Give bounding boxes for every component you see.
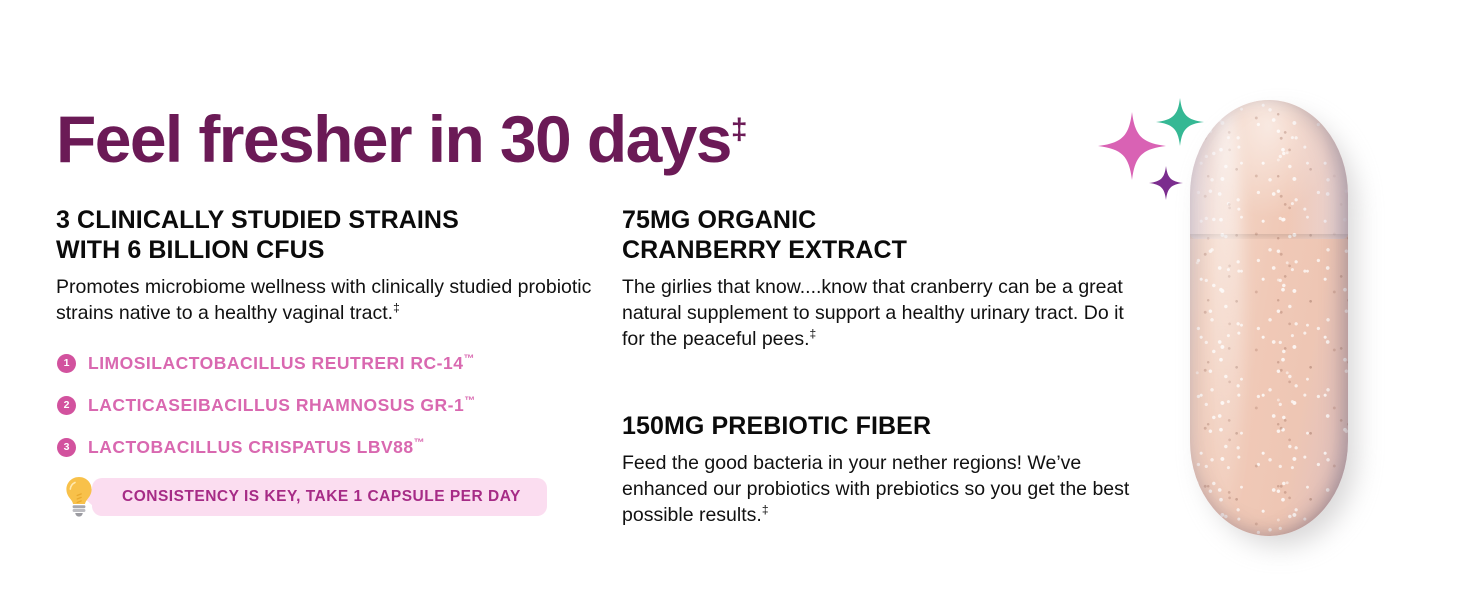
trademark-symbol: ™ xyxy=(464,395,475,407)
consistency-callout: CONSISTENCY IS KEY, TAKE 1 CAPSULE PER D… xyxy=(62,472,547,522)
page-title: Feel fresher in 30 days‡ xyxy=(56,106,748,172)
strain-name-text: LIMOSILACTOBACILLUS REUTRERI RC-14 xyxy=(88,353,463,373)
fiber-body: Feed the good bacteria in your nether re… xyxy=(622,451,1142,529)
strain-name: LIMOSILACTOBACILLUS REUTRERI RC-14™ xyxy=(88,353,474,374)
sparkle-purple-small xyxy=(1149,166,1183,200)
strains-body-text: Promotes microbiome wellness with clinic… xyxy=(56,276,591,324)
strain-name: LACTICASEIBACILLUS RHAMNOSUS GR-1™ xyxy=(88,395,475,416)
list-item: 2 LACTICASEIBACILLUS RHAMNOSUS GR-1™ xyxy=(57,394,475,416)
list-item: 3 LACTOBACILLUS CRISPATUS LBV88™ xyxy=(57,436,475,458)
strain-number-badge: 1 xyxy=(57,354,76,373)
fiber-heading: 150MG PREBIOTIC FIBER xyxy=(622,411,1142,441)
trademark-symbol: ™ xyxy=(463,353,474,365)
section-spacer xyxy=(622,353,1142,411)
cranberry-body-dagger: ‡ xyxy=(810,326,817,340)
sparkle-pink-large xyxy=(1098,112,1166,180)
capsule-image xyxy=(1190,100,1350,540)
strain-name: LACTOBACILLUS CRISPATUS LBV88™ xyxy=(88,437,425,458)
callout-bubble: CONSISTENCY IS KEY, TAKE 1 CAPSULE PER D… xyxy=(92,478,547,516)
strain-number-badge: 2 xyxy=(57,396,76,415)
lightbulb-icon xyxy=(62,475,96,519)
strains-body: Promotes microbiome wellness with clinic… xyxy=(56,275,616,327)
strains-heading-line1: 3 CLINICALLY STUDIED STRAINS xyxy=(56,206,459,234)
trademark-symbol: ™ xyxy=(414,437,425,449)
strain-list: 1 LIMOSILACTOBACILLUS REUTRERI RC-14™ 2 … xyxy=(57,352,475,478)
strains-body-dagger: ‡ xyxy=(393,300,400,314)
list-item: 1 LIMOSILACTOBACILLUS REUTRERI RC-14™ xyxy=(57,352,475,374)
column-strains: 3 CLINICALLY STUDIED STRAINS WITH 6 BILL… xyxy=(56,205,616,327)
column-cranberry-fiber: 75MG ORGANIC CRANBERRY EXTRACT The girli… xyxy=(622,205,1142,529)
strain-number-badge: 3 xyxy=(57,438,76,457)
cranberry-heading-line2: CRANBERRY EXTRACT xyxy=(622,236,907,264)
strain-name-text: LACTICASEIBACILLUS RHAMNOSUS GR-1 xyxy=(88,395,464,415)
cranberry-heading-line1: 75MG ORGANIC xyxy=(622,206,816,234)
strains-heading-line2: WITH 6 BILLION CFUS xyxy=(56,236,325,264)
promo-banner: Feel fresher in 30 days‡ 3 CLINICALLY ST… xyxy=(0,0,1464,600)
headline-text: Feel fresher in 30 days xyxy=(56,102,731,176)
capsule-edge-shading xyxy=(1190,100,1348,536)
cranberry-heading: 75MG ORGANIC CRANBERRY EXTRACT xyxy=(622,205,1142,265)
callout-text: CONSISTENCY IS KEY, TAKE 1 CAPSULE PER D… xyxy=(122,488,521,506)
strain-name-text: LACTOBACILLUS CRISPATUS LBV88 xyxy=(88,437,414,457)
fiber-body-text: Feed the good bacteria in your nether re… xyxy=(622,452,1129,526)
strains-heading: 3 CLINICALLY STUDIED STRAINS WITH 6 BILL… xyxy=(56,205,616,265)
cranberry-body-text: The girlies that know....know that cranb… xyxy=(622,276,1124,350)
capsule xyxy=(1190,100,1348,536)
cranberry-body: The girlies that know....know that cranb… xyxy=(622,275,1142,353)
headline-dagger-superscript: ‡ xyxy=(731,113,748,146)
fiber-body-dagger: ‡ xyxy=(762,502,769,516)
